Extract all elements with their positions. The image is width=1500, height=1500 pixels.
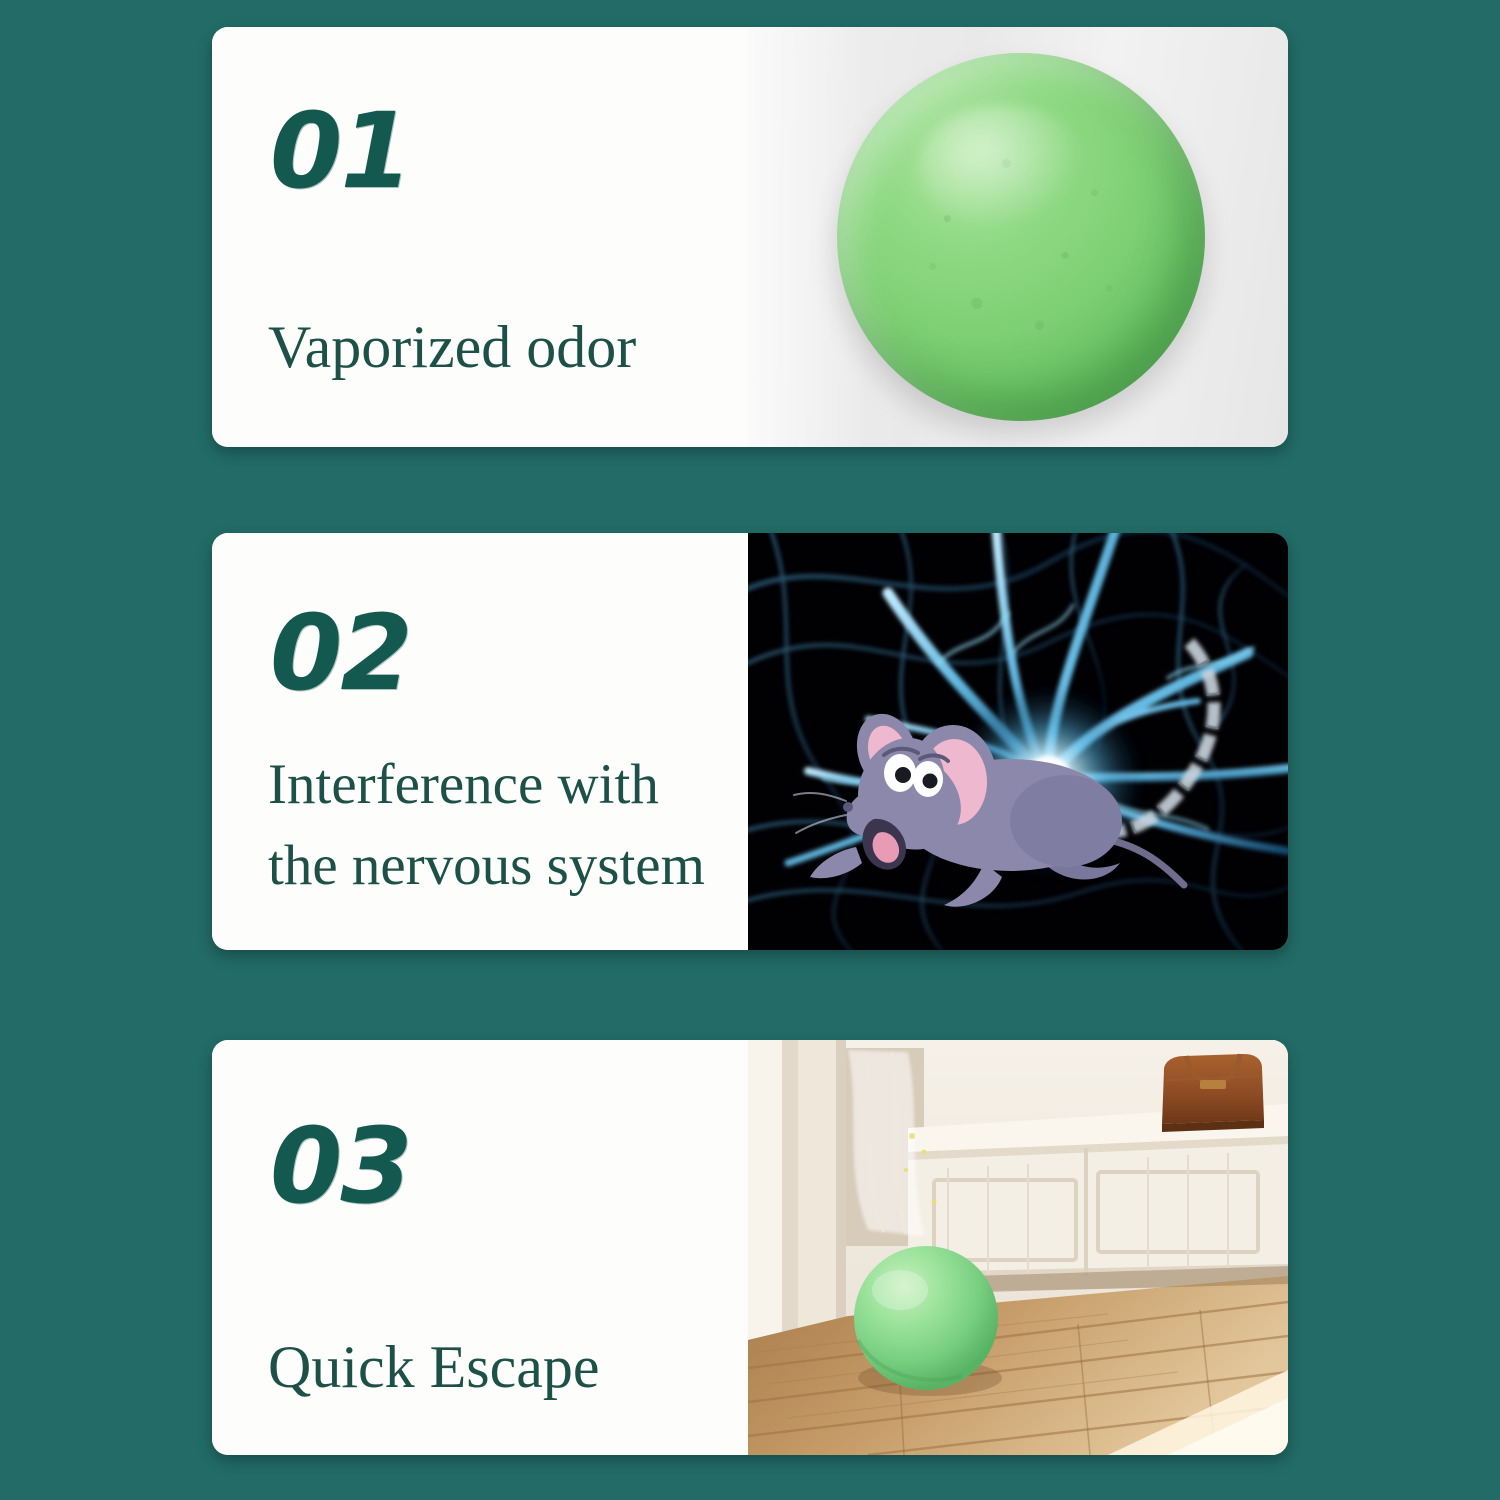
room-floor-photo <box>748 1040 1288 1455</box>
green-ball-product-photo <box>748 27 1288 447</box>
card-03-media <box>748 1040 1288 1455</box>
green-ball <box>837 53 1205 421</box>
card-01-number: 01 <box>270 99 411 203</box>
feature-card-01: 01 Vaporized odor <box>212 27 1288 447</box>
infographic-board: 01 Vaporized odor 02 Interference with t… <box>0 0 1500 1500</box>
room-scene-svg <box>748 1040 1288 1455</box>
card-03-number: 03 <box>270 1114 411 1218</box>
feature-card-03: 03 Quick Escape <box>212 1040 1288 1455</box>
card-01-label: Vaporized odor <box>268 305 730 390</box>
card-02-label: Interference with the nervous system <box>268 745 730 907</box>
neural-scene-svg <box>748 533 1288 950</box>
neural-network-mouse-illustration <box>748 533 1288 950</box>
card-02-media <box>748 533 1288 950</box>
leather-bag <box>1162 1054 1264 1132</box>
card-01-media <box>748 27 1288 447</box>
card-01-text-panel: 01 Vaporized odor <box>212 27 748 447</box>
ball-texture-speckles <box>837 53 1205 421</box>
card-03-text-panel: 03 Quick Escape <box>212 1040 748 1455</box>
card-02-text-panel: 02 Interference with the nervous system <box>212 533 748 950</box>
feature-card-02: 02 Interference with the nervous system <box>212 533 1288 950</box>
card-02-number: 02 <box>270 601 411 705</box>
card-03-label: Quick Escape <box>268 1325 730 1410</box>
